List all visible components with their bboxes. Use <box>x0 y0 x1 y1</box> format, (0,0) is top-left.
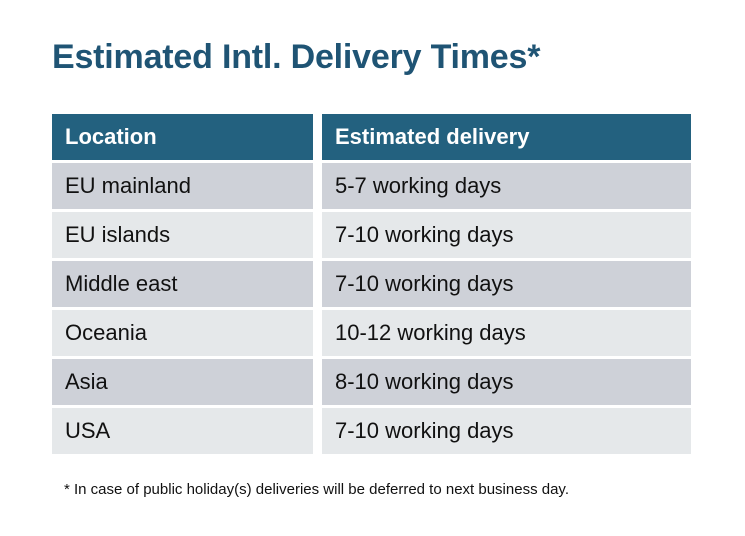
cell-location: USA <box>52 408 313 454</box>
cell-delivery: 5-7 working days <box>322 163 691 209</box>
table-row: Asia 8-10 working days <box>52 359 691 405</box>
column-separator <box>313 408 322 454</box>
cell-delivery: 10-12 working days <box>322 310 691 356</box>
column-separator <box>313 163 322 209</box>
table-row: Oceania 10-12 working days <box>52 310 691 356</box>
table-header-row: Location Estimated delivery <box>52 114 691 160</box>
cell-delivery: 7-10 working days <box>322 408 691 454</box>
cell-delivery: 7-10 working days <box>322 261 691 307</box>
cell-delivery: 7-10 working days <box>322 212 691 258</box>
table-row: Middle east 7-10 working days <box>52 261 691 307</box>
delivery-times-page: Estimated Intl. Delivery Times* Location… <box>0 0 745 536</box>
cell-location: EU islands <box>52 212 313 258</box>
table-row: EU islands 7-10 working days <box>52 212 691 258</box>
column-separator <box>313 359 322 405</box>
column-header-delivery: Estimated delivery <box>322 114 691 160</box>
cell-location: Asia <box>52 359 313 405</box>
table-row: USA 7-10 working days <box>52 408 691 454</box>
delivery-times-table: Location Estimated delivery EU mainland … <box>52 114 691 457</box>
cell-delivery: 8-10 working days <box>322 359 691 405</box>
page-title: Estimated Intl. Delivery Times* <box>52 36 540 78</box>
column-separator <box>313 261 322 307</box>
footnote-text: * In case of public holiday(s) deliverie… <box>64 480 569 500</box>
table-row: EU mainland 5-7 working days <box>52 163 691 209</box>
column-separator <box>313 114 322 160</box>
cell-location: EU mainland <box>52 163 313 209</box>
column-separator <box>313 212 322 258</box>
cell-location: Middle east <box>52 261 313 307</box>
column-header-location: Location <box>52 114 313 160</box>
cell-location: Oceania <box>52 310 313 356</box>
column-separator <box>313 310 322 356</box>
